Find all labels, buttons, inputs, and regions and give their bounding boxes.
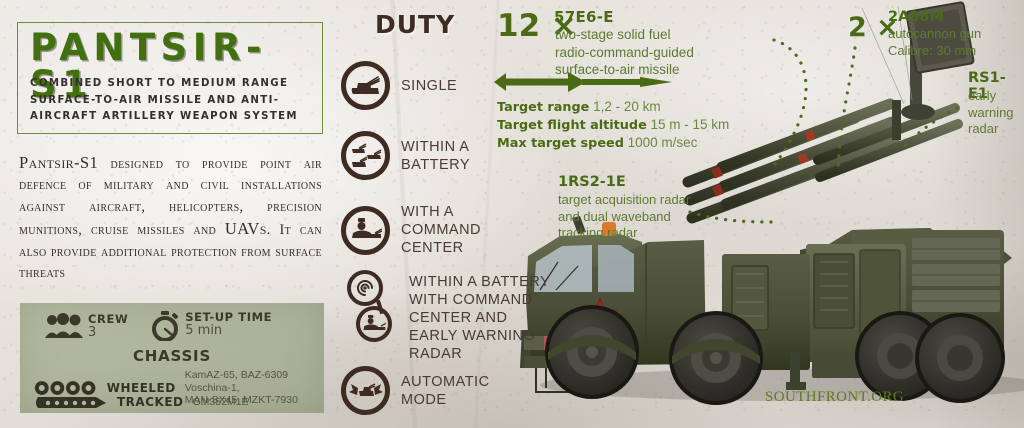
duty-item-command-center-secondary[interactable] [356, 306, 392, 342]
chassis-heading: CHASSIS [20, 347, 324, 365]
missile-name: 57E6-E [554, 8, 614, 26]
description-emphasis: UAVs [225, 219, 267, 238]
duty-item-with-a-command-center[interactable]: WITH A COMMAND CENTER [341, 203, 481, 257]
crew-people-icon [45, 313, 83, 339]
command-center-icon [356, 306, 392, 342]
tracks-icon [34, 394, 110, 410]
command-center-icon [341, 206, 390, 255]
automatic-mode-icon [341, 366, 390, 415]
missile-silhouette-icon [494, 68, 672, 96]
setup-time-value: 5 min [185, 324, 272, 338]
page-subtitle: COMBINED SHORT TO MEDIUM RANGE SURFACE-T… [30, 76, 322, 126]
tracked-label: TRACKED [117, 395, 183, 409]
crew-setup-row: CREW 3 SET-UP TIME 5 min [45, 311, 272, 341]
duty-item-battery-with-command-and-ew-radar[interactable] [347, 270, 383, 306]
stat-value: 1,2 - 20 km [593, 99, 661, 114]
title-box: PANTSIR-S1 COMBINED SHORT TO MEDIUM RANG… [17, 22, 323, 134]
stat-key: Target range [497, 100, 589, 115]
description-lead: Pantsir-S1 [19, 153, 98, 172]
stat-row: Target range 1,2 - 20 km [497, 98, 729, 116]
single-vehicle-icon [341, 61, 390, 110]
battery-vehicles-icon [341, 131, 390, 180]
stat-key: Max target speed [497, 136, 624, 151]
setup-time-block: SET-UP TIME 5 min [150, 311, 272, 341]
description-paragraph: Pantsir-S1 designed to provide point air… [19, 152, 322, 284]
watermark: SOUTHFRONT.ORG [765, 389, 904, 406]
stat-row: Max target speed 1000 m/sec [497, 134, 729, 152]
wheeled-label: WHEELED [107, 381, 176, 395]
duty-item-within-a-battery[interactable]: WITHIN A BATTERY [341, 131, 470, 180]
duty-item-label: WITH A COMMAND CENTER [401, 203, 481, 257]
crew-block: CREW 3 [45, 313, 128, 340]
tracked-row: TRACKED GM352M1E [34, 394, 249, 410]
stat-value: 15 m - 15 km [651, 117, 730, 132]
setup-time-label: SET-UP TIME [185, 311, 272, 323]
stat-value: 1000 m/sec [628, 135, 698, 150]
duty-item-label: AUTOMATIC MODE [401, 373, 490, 409]
duty-heading: DUTY [375, 10, 455, 39]
duty-item-label: WITHIN A BATTERY [401, 138, 470, 174]
crew-value: 3 [88, 326, 128, 340]
gun-name: 2A38M [888, 9, 944, 25]
crew-label: CREW [88, 313, 128, 325]
tracking-radar-description: target acquisition radar and dual waveba… [558, 192, 758, 242]
gun-description: autocannon gun Calibre: 30 mm [888, 26, 1024, 59]
duty-item-label: WITHIN A BATTERY WITH COMMAND CENTER AND… [409, 273, 550, 363]
stat-key: Target flight altitude [497, 118, 647, 133]
duty-item-single[interactable]: SINGLE [341, 61, 457, 110]
duty-item-automatic-mode[interactable]: AUTOMATIC MODE [341, 366, 490, 415]
stopwatch-icon [150, 311, 180, 341]
radar-dish-icon [347, 270, 383, 306]
duty-item-label: SINGLE [401, 77, 457, 95]
stat-row: Target flight altitude 15 m - 15 km [497, 116, 729, 134]
specifications-box: CREW 3 SET-UP TIME 5 min CHASSIS [20, 303, 324, 413]
missile-stats: Target range 1,2 - 20 km Target flight a… [497, 98, 729, 152]
tracking-radar-name: 1RS2-1E [558, 174, 626, 190]
tracked-value: GM352M1E [192, 396, 248, 409]
early-warning-radar-description: early warning radar [968, 88, 1024, 138]
